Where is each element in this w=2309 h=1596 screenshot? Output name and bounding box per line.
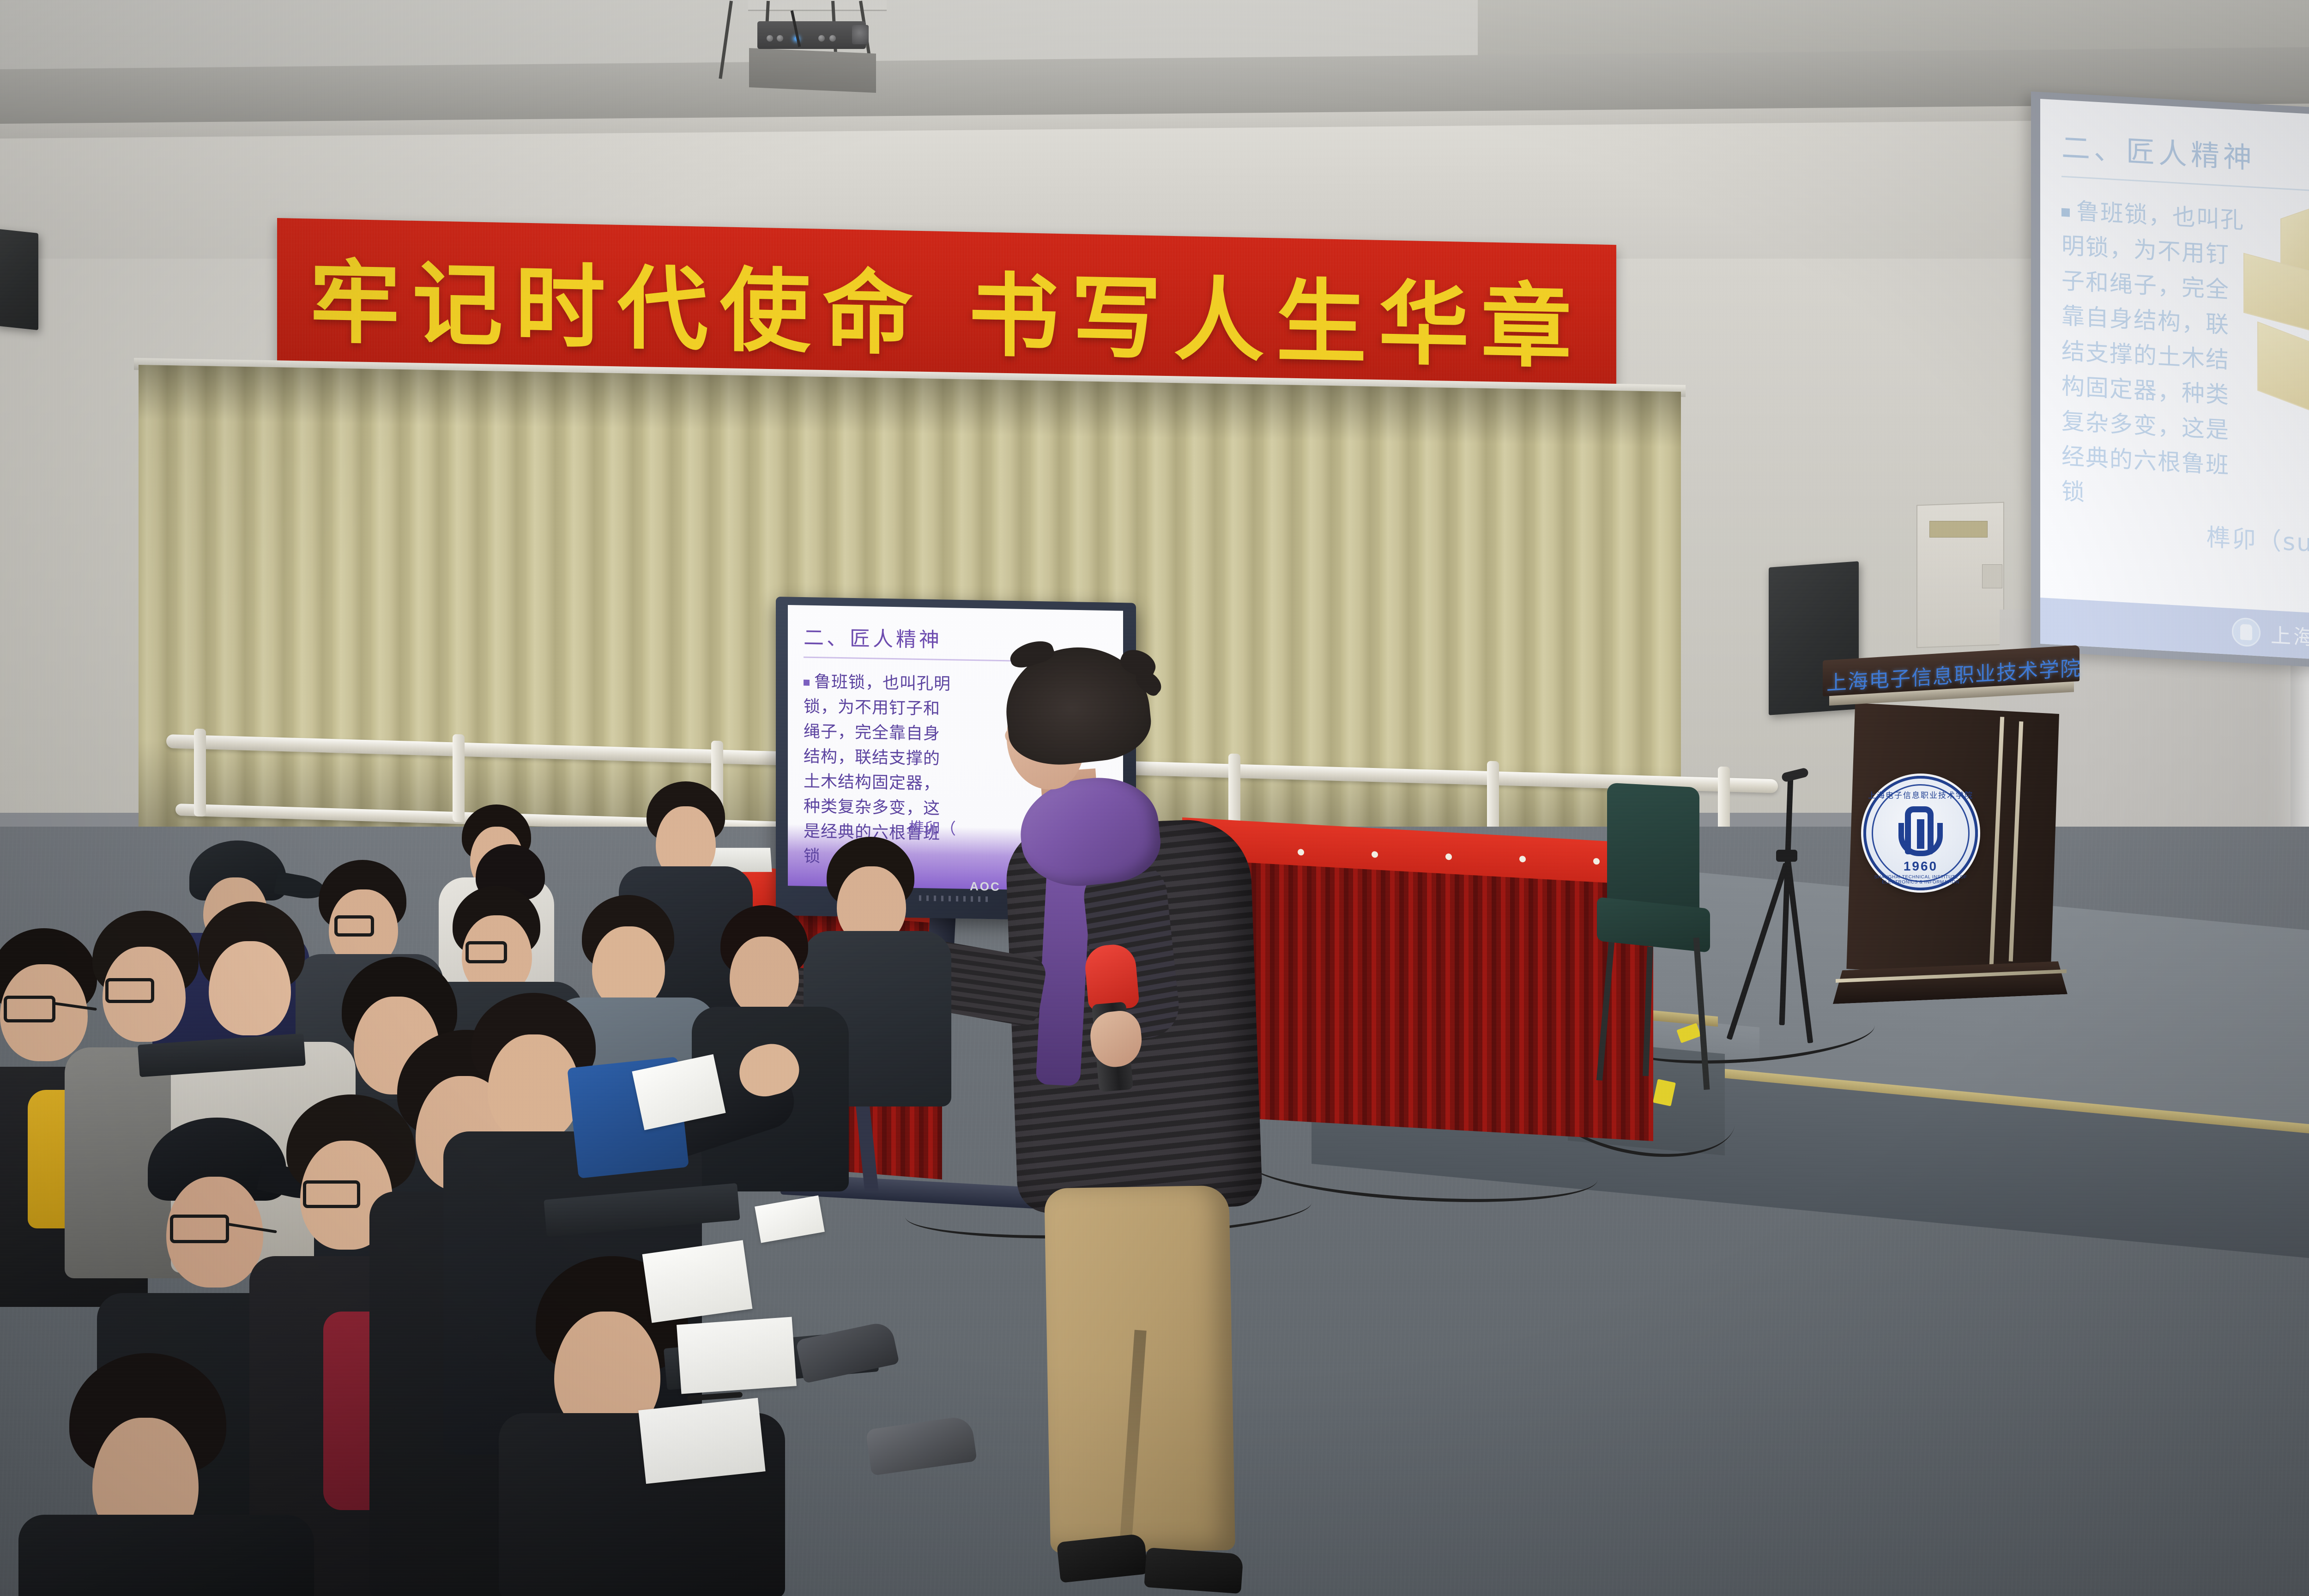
emblem-english-text: SHANGHAI TECHNICAL INSTITUTE OF ELECTRON… (1866, 875, 1975, 885)
slide-title: 二、匠人精神 (2061, 124, 2309, 183)
student-head (488, 1034, 580, 1142)
projector-knob (777, 35, 783, 42)
student-head (730, 937, 799, 1015)
luban-lock-illustration (2225, 192, 2309, 461)
projector-knob (829, 35, 836, 42)
school-emblem: 上海电子信息职业技术学院 1960 SHANGHAI TECHNICAL INS… (1863, 776, 1978, 890)
student-head (592, 926, 665, 1009)
emblem-year: 1960 (1866, 859, 1975, 874)
handout-paper[interactable] (638, 1398, 765, 1484)
slide-caption: 榫卯（sunm (2206, 518, 2309, 561)
eyeglasses-icon (105, 978, 154, 1003)
eyeglasses-icon (465, 941, 507, 963)
slide-bullet: 鲁班锁，也叫孔明锁，为不用钉子和绳子，完全靠自身结构，联结支撑的土木结构固定器，… (2061, 193, 2246, 519)
railing-post (194, 729, 206, 817)
student-body (18, 1515, 314, 1596)
projection-screen: 二、匠人精神 鲁班锁，也叫孔明锁，为不用钉子和绳子，完全靠自身结构，联结支撑的土… (2040, 99, 2309, 664)
banner-text: 牢记时代使命 书写人生华章 (310, 229, 1584, 385)
projector-rod (719, 1, 733, 79)
presenter (951, 647, 1275, 1596)
wall-panel-label (1929, 521, 1988, 538)
railing-post (453, 734, 465, 822)
projector-knob (767, 35, 773, 42)
eyeglasses-icon (303, 1180, 360, 1208)
projector-underside (749, 48, 876, 93)
eyeglasses-icon (334, 915, 374, 937)
projector-body (757, 21, 866, 49)
emblem-glyph-icon (1898, 806, 1943, 860)
eyeglasses-icon (4, 996, 55, 1022)
wall-speaker-left (0, 229, 38, 330)
microphone-head[interactable] (1083, 943, 1140, 1011)
handout-paper[interactable] (677, 1317, 797, 1394)
slide-footer-text: 上海电子信 (2271, 619, 2309, 655)
bullet-square-icon (804, 679, 810, 685)
wall-panel-slot (1982, 564, 2002, 588)
presenter-shoe (1144, 1548, 1243, 1594)
slide-bullet-text: 鲁班锁，也叫孔明锁，为不用钉子和绳子，完全靠自身结构，联结支撑的土木结构固定器，… (2061, 198, 2244, 506)
bullet-square-icon (2061, 208, 2070, 217)
lectern-podium[interactable]: 上海电子信息职业技术学院 上海电子信息职业技术学院 1960 SHANGHAI … (1836, 660, 2067, 1025)
eyeglasses-icon (170, 1215, 229, 1243)
emblem-chinese-text: 上海电子信息职业技术学院 (1866, 789, 1975, 800)
auditorium-photo: 牢记时代使命 书写人生华章 二、匠人精神 鲁班锁，也叫孔明锁，为不用钉子和绳子，… (0, 0, 2309, 1596)
ceiling-projector (720, 0, 919, 108)
projector-lens-icon (852, 25, 869, 44)
lcd-slide-caption: 榫卯（ (909, 816, 956, 839)
school-logo-icon (2232, 617, 2261, 647)
presenter-shoe (1057, 1533, 1148, 1583)
projector-knob (818, 35, 825, 42)
slide-title-rule (2061, 176, 2309, 194)
student-head (209, 941, 291, 1035)
handout-paper[interactable] (642, 1240, 753, 1323)
